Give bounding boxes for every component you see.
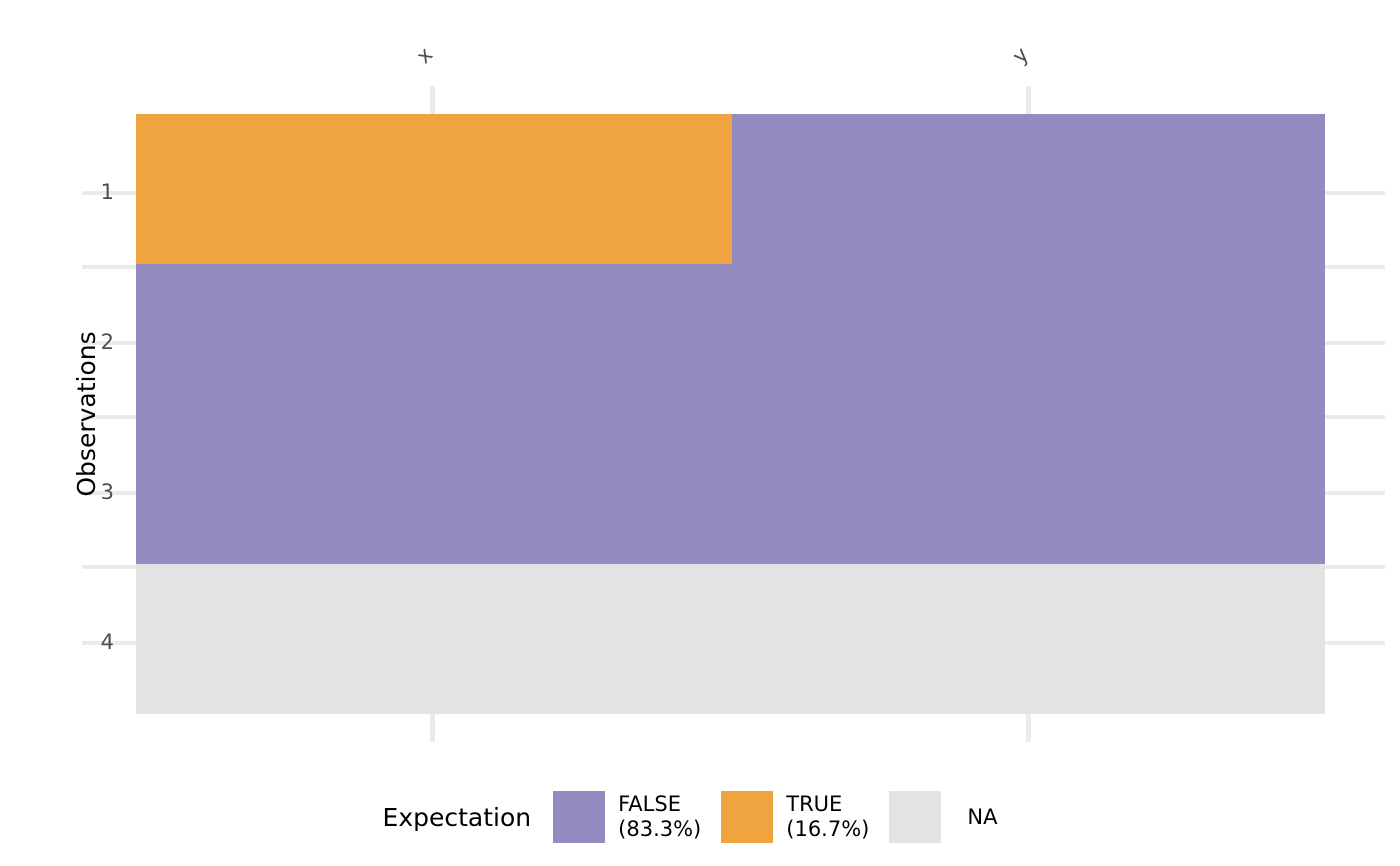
legend-item-false[interactable]: FALSE(83.3%) — [553, 791, 701, 843]
bar-segment-na[interactable] — [136, 564, 1325, 714]
bar-segment-false[interactable] — [732, 114, 1325, 264]
legend-item-true[interactable]: TRUE(16.7%) — [721, 791, 869, 843]
y-axis-title: Observations — [72, 331, 101, 496]
legend-label-na: NA — [967, 805, 997, 830]
y-axis-title-wrap: Observations — [0, 114, 44, 714]
legend-items: FALSE(83.3%)TRUE(16.7%)NA — [553, 791, 1017, 843]
legend-title: Expectation — [383, 803, 532, 832]
vertical-gridline-stub — [430, 714, 435, 742]
y-axis-tick-label: 2 — [101, 332, 114, 353]
bar-segment-false[interactable] — [136, 414, 1325, 564]
bar-row[interactable] — [136, 114, 1325, 264]
x-axis-tick-label: y — [1009, 44, 1033, 68]
vertical-gridline-stub — [1026, 714, 1031, 742]
bar-row[interactable] — [136, 564, 1325, 714]
plot-panel — [136, 114, 1325, 714]
x-axis-tick-label: x — [413, 44, 437, 68]
y-axis-tick-label: 4 — [101, 632, 114, 653]
vertical-gridline-stub — [1026, 86, 1031, 114]
legend: Expectation FALSE(83.3%)TRUE(16.7%)NA — [0, 782, 1400, 852]
legend-label-false: FALSE(83.3%) — [618, 792, 701, 842]
legend-swatch-false — [553, 791, 605, 843]
bar-row[interactable] — [136, 414, 1325, 564]
y-axis-tick-label: 1 — [101, 182, 114, 203]
y-axis-tick-label: 3 — [101, 482, 114, 503]
legend-label-true: TRUE(16.7%) — [786, 792, 869, 842]
chart-root: xy 1234 Observations Expectation FALSE(8… — [0, 0, 1400, 866]
legend-item-na[interactable]: NA — [889, 791, 997, 843]
legend-swatch-true — [721, 791, 773, 843]
bar-row[interactable] — [136, 264, 1325, 414]
legend-swatch-na — [889, 791, 941, 843]
bar-segment-true[interactable] — [136, 114, 732, 264]
bar-segment-false[interactable] — [136, 264, 1325, 414]
vertical-gridline-stub — [430, 86, 435, 114]
